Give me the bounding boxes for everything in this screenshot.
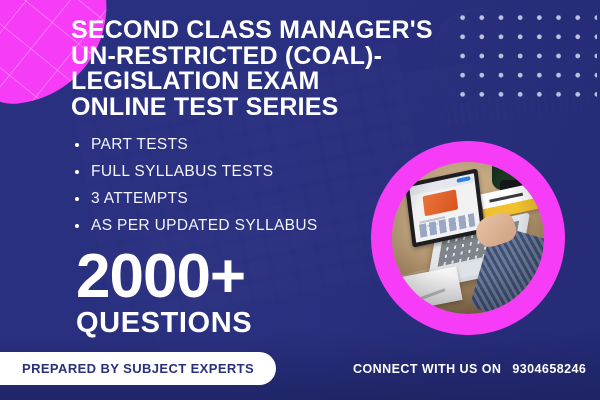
phone-number: 9304658246 xyxy=(512,362,586,376)
promo-banner: SECOND CLASS MANAGER'S UN-RESTRICTED (CO… xyxy=(0,0,600,400)
title-line-4: ONLINE TEST SERIES xyxy=(71,95,463,121)
laptop-photo xyxy=(392,162,544,314)
feature-list: PART TESTS FULL SYLLABUS TESTS 3 ATTEMPT… xyxy=(72,131,318,239)
list-item: AS PER UPDATED SYLLABUS xyxy=(72,212,318,239)
title-line-3: LEGISLATION EXAM xyxy=(71,69,463,95)
page-title: SECOND CLASS MANAGER'S UN-RESTRICTED (CO… xyxy=(71,18,463,120)
experts-badge-label: PREPARED BY SUBJECT EXPERTS xyxy=(22,361,254,376)
dot-grid-decoration xyxy=(451,6,597,104)
photo-vignette xyxy=(392,162,544,314)
title-line-1: SECOND CLASS MANAGER'S xyxy=(71,18,463,44)
list-item: PART TESTS xyxy=(72,131,318,158)
list-item: 3 ATTEMPTS xyxy=(72,185,318,212)
photo-ring-decoration xyxy=(371,141,565,335)
question-count-block: 2000+ QUESTIONS xyxy=(76,248,252,339)
experts-badge: PREPARED BY SUBJECT EXPERTS xyxy=(0,352,276,385)
list-item: FULL SYLLABUS TESTS xyxy=(72,158,318,185)
connect-label: CONNECT WITH US ON xyxy=(353,362,501,376)
question-count-label: QUESTIONS xyxy=(76,307,252,339)
title-line-2: UN-RESTRICTED (COAL)- xyxy=(71,44,463,70)
question-count-number: 2000+ xyxy=(76,248,252,306)
contact-info: CONNECT WITH US ON 9304658246 xyxy=(353,362,586,376)
